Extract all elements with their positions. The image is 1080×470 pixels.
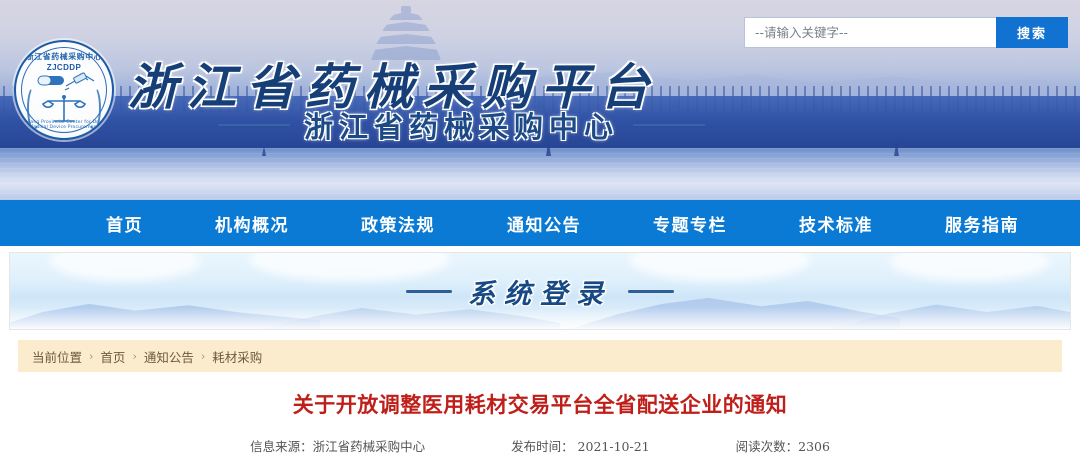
- breadcrumb-label: 当前位置: [32, 347, 82, 366]
- breadcrumb-separator: ›: [201, 350, 205, 363]
- site-subtitle-wrap: 浙江省药械采购中心: [218, 104, 705, 146]
- search-input[interactable]: [744, 17, 996, 48]
- breadcrumb: 当前位置 › 首页 › 通知公告 › 耗材采购: [18, 340, 1062, 372]
- article-publish-time: 发布时间： 2021-10-21: [511, 436, 650, 455]
- nav-item-standards[interactable]: 技术标准: [789, 211, 883, 236]
- breadcrumb-separator: ›: [132, 350, 136, 363]
- article-view-count: 阅读次数：2306: [736, 436, 830, 455]
- breadcrumb-item-home[interactable]: 首页: [100, 347, 125, 366]
- lake-water: [0, 148, 1080, 200]
- breadcrumb-separator: ›: [89, 350, 93, 363]
- nav-item-about[interactable]: 机构概况: [205, 211, 299, 236]
- system-login-label: 系统登录: [468, 272, 612, 311]
- nav-item-notice[interactable]: 通知公告: [497, 211, 591, 236]
- logo-arc-top-text: 浙江省药械采购中心: [14, 51, 114, 62]
- article-title: 关于开放调整医用耗材交易平台全省配送企业的通知: [18, 392, 1062, 419]
- subtitle-rule-left: [218, 124, 290, 126]
- search-button[interactable]: 搜索: [996, 17, 1068, 48]
- banner-shell: 系统登录: [0, 246, 1080, 330]
- search-box: 搜索: [744, 17, 1068, 48]
- logo-arc-bottom-text: Zhejiang Provincial Center for Drug & Me…: [16, 120, 112, 130]
- site-header: 浙江省药械采购中心 ZJCDDP: [0, 0, 1080, 200]
- system-login-banner[interactable]: 系统登录: [9, 252, 1071, 330]
- banner-center: 系统登录: [10, 253, 1070, 329]
- logo-abbreviation: ZJCDDP: [16, 63, 112, 72]
- subtitle-rule-right: [633, 124, 705, 126]
- nav-item-guide[interactable]: 服务指南: [935, 211, 1029, 236]
- site-subtitle: 浙江省药械采购中心: [304, 104, 619, 146]
- banner-rule-right: [628, 290, 674, 293]
- nav-item-policy[interactable]: 政策法规: [351, 211, 445, 236]
- syringe-capsule-icon: [36, 72, 96, 92]
- breadcrumb-item-notice[interactable]: 通知公告: [144, 347, 194, 366]
- content-area: 当前位置 › 首页 › 通知公告 › 耗材采购 关于开放调整医用耗材交易平台全省…: [0, 330, 1080, 455]
- banner-rule-left: [406, 290, 452, 293]
- breadcrumb-item-consumables[interactable]: 耗材采购: [212, 347, 262, 366]
- site-logo[interactable]: 浙江省药械采购中心 ZJCDDP: [14, 40, 114, 140]
- article: 关于开放调整医用耗材交易平台全省配送企业的通知 信息来源：浙江省药械采购中心 发…: [18, 372, 1062, 455]
- main-navigation: 首页 机构概况 政策法规 通知公告 专题专栏 技术标准 服务指南 网站地图: [0, 200, 1080, 246]
- nav-item-topics[interactable]: 专题专栏: [643, 211, 737, 236]
- article-source: 信息来源：浙江省药械采购中心: [250, 436, 425, 455]
- article-meta: 信息来源：浙江省药械采购中心 发布时间： 2021-10-21 阅读次数：230…: [18, 436, 1062, 455]
- nav-item-home[interactable]: 首页: [96, 211, 153, 236]
